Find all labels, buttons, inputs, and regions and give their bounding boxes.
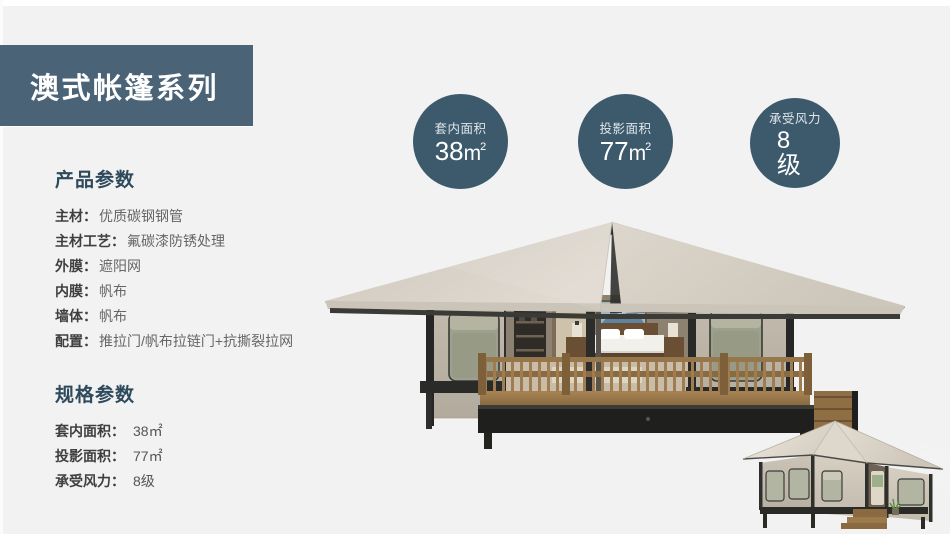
- param-key: 内膜：: [55, 279, 97, 304]
- product-spec-page: 澳式帐篷系列 产品参数 主材： 优质碳钢钢管 主材工艺： 氟碳漆防锈处理 外膜：…: [0, 0, 950, 534]
- param-key: 墙体：: [55, 304, 97, 329]
- top-white-strip: [0, 0, 950, 6]
- param-key: 投影面积：: [55, 444, 125, 469]
- param-key: 套内面积：: [55, 419, 125, 444]
- param-value: 77㎡: [133, 444, 163, 469]
- param-key: 承受风力：: [55, 469, 125, 494]
- param-value: 遮阳网: [99, 254, 141, 279]
- stat-value: 8级: [777, 128, 813, 178]
- stat-value: 77m2: [600, 138, 652, 165]
- stat-circle-wind-resistance: 承受风力 8级: [750, 98, 840, 188]
- param-value: 优质碳钢钢管: [99, 204, 183, 229]
- param-key: 主材：: [55, 204, 97, 229]
- stat-label: 套内面积: [434, 118, 486, 137]
- product-params-heading: 产品参数: [55, 165, 355, 192]
- param-row: 承受风力： 8级: [55, 469, 355, 494]
- stat-value: 38m2: [435, 138, 487, 165]
- thumbnail-tent-illustration: [735, 413, 950, 534]
- stat-circle-interior-area: 套内面积 38m2: [413, 94, 508, 189]
- stat-circle-projected-area: 投影面积 77m2: [578, 94, 673, 189]
- series-title-banner: 澳式帐篷系列: [0, 45, 253, 126]
- param-key: 主材工艺：: [55, 229, 125, 254]
- stat-label: 投影面积: [599, 118, 651, 137]
- param-value: 氟碳漆防锈处理: [127, 229, 225, 254]
- series-title-text: 澳式帐篷系列: [30, 65, 219, 107]
- param-value: 38㎡: [133, 419, 163, 444]
- param-value: 帆布: [99, 304, 127, 329]
- param-key: 外膜：: [55, 254, 97, 279]
- param-value: 帆布: [99, 279, 127, 304]
- param-value: 推拉门/帆布拉链门+抗撕裂拉网: [99, 329, 293, 354]
- param-key: 配置：: [55, 329, 97, 354]
- stat-label: 承受风力: [769, 108, 821, 127]
- param-value: 8级: [133, 469, 155, 494]
